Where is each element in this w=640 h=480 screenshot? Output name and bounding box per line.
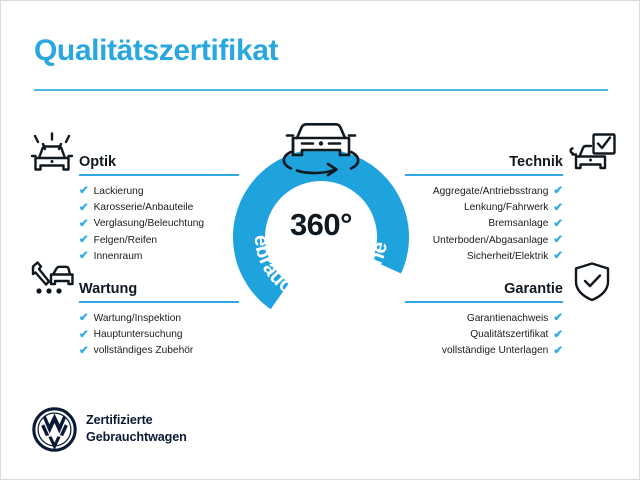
list-item: ✔Innenraum (79, 249, 239, 265)
list-item-label: Hauptuntersuchung (94, 327, 183, 343)
list-item: ✔Wartung/Inspektion (79, 311, 239, 327)
check-icon: ✔ (553, 251, 563, 263)
check-icon: ✔ (553, 186, 563, 198)
list-item: ✔Aggregate/Antriebsstrang (405, 184, 563, 200)
section-garantie-header: Garantie (405, 273, 563, 303)
footer-brand-text: Zertifizierte Gebrauchtwagen (86, 412, 187, 446)
list-item: ✔vollständige Unterlagen (405, 343, 563, 359)
list-item-label: Aggregate/Antriebsstrang (433, 184, 549, 200)
section-optik: Optik ✔Lackierung ✔Karosserie/Anbauteile… (79, 146, 239, 265)
page-title: Qualitätszertifikat (34, 34, 278, 68)
section-technik-divider (405, 174, 563, 176)
list-item: ✔Felgen/Reifen (79, 233, 239, 249)
check-icon: ✔ (79, 186, 89, 198)
section-wartung: Wartung ✔Wartung/Inspektion ✔Hauptunters… (79, 273, 239, 360)
section-garantie-divider (405, 301, 563, 303)
footer-line-2: Gebrauchtwagen (86, 429, 187, 446)
list-item-label: Garantienachweis (467, 311, 549, 327)
car-front-rotate-icon (267, 118, 375, 180)
check-icon: ✔ (79, 219, 89, 231)
certificate-page: Qualitätszertifikat Optik ✔Lackierung ✔K… (0, 0, 640, 480)
list-item-label: Qualitätszertifikat (470, 327, 548, 343)
car-shine-icon (27, 132, 77, 176)
section-optik-title: Optik (79, 154, 116, 170)
section-wartung-header: Wartung (79, 273, 239, 303)
check-icon: ✔ (79, 313, 89, 325)
list-item-label: Innenraum (94, 249, 143, 265)
list-item: ✔Lackierung (79, 184, 239, 200)
section-wartung-title: Wartung (79, 281, 137, 297)
list-item: ✔Lenkung/Fahrwerk (405, 200, 563, 216)
check-icon: ✔ (553, 330, 563, 342)
list-item-label: vollständiges Zubehör (94, 343, 194, 359)
title-divider (34, 89, 608, 91)
list-item-label: Felgen/Reifen (94, 233, 157, 249)
list-item-label: vollständige Unterlagen (442, 343, 548, 359)
list-item-label: Bremsanlage (488, 216, 548, 232)
list-item: ✔Verglasung/Beleuchtung (79, 216, 239, 232)
list-item: ✔Sicherheit/Elektrik (405, 249, 563, 265)
section-technik-list: ✔Aggregate/Antriebsstrang ✔Lenkung/Fahrw… (405, 184, 563, 265)
vw-logo (32, 407, 77, 452)
check-icon: ✔ (553, 203, 563, 215)
badge-center-label: 360° (233, 207, 409, 243)
section-optik-header: Optik (79, 146, 239, 176)
car-checkbox-icon (567, 132, 617, 176)
list-item-label: Sicherheit/Elektrik (467, 249, 549, 265)
list-item: ✔Qualitätszertifikat (405, 327, 563, 343)
section-wartung-divider (79, 301, 239, 303)
wrench-car-icon (27, 260, 77, 304)
list-item: ✔Bremsanlage (405, 216, 563, 232)
shield-check-icon (569, 260, 615, 304)
section-optik-list: ✔Lackierung ✔Karosserie/Anbauteile ✔Verg… (79, 184, 239, 265)
list-item-label: Lenkung/Fahrwerk (464, 200, 548, 216)
list-item: ✔Hauptuntersuchung (79, 327, 239, 343)
section-technik-header: Technik (405, 146, 563, 176)
check-icon: ✔ (553, 346, 563, 358)
section-technik: Technik ✔Aggregate/Antriebsstrang ✔Lenku… (405, 146, 563, 265)
section-garantie: Garantie ✔Garantienachweis ✔Qualitätszer… (405, 273, 563, 360)
check-icon: ✔ (79, 235, 89, 247)
section-technik-title: Technik (509, 154, 563, 170)
list-item-label: Lackierung (94, 184, 144, 200)
list-item-label: Verglasung/Beleuchtung (94, 216, 204, 232)
list-item: ✔Unterboden/Abgasanlage (405, 233, 563, 249)
check-icon: ✔ (553, 313, 563, 325)
section-optik-divider (79, 174, 239, 176)
list-item-label: Unterboden/Abgasanlage (433, 233, 549, 249)
list-item: ✔Garantienachweis (405, 311, 563, 327)
check-icon: ✔ (79, 251, 89, 263)
list-item-label: Karosserie/Anbauteile (94, 200, 194, 216)
list-item: ✔Karosserie/Anbauteile (79, 200, 239, 216)
footer-line-1: Zertifizierte (86, 412, 187, 429)
check-icon: ✔ (79, 203, 89, 215)
list-item-label: Wartung/Inspektion (94, 311, 181, 327)
section-wartung-list: ✔Wartung/Inspektion ✔Hauptuntersuchung ✔… (79, 311, 239, 360)
section-garantie-title: Garantie (504, 281, 563, 297)
check-icon: ✔ (553, 235, 563, 247)
section-garantie-list: ✔Garantienachweis ✔Qualitätszertifikat ✔… (405, 311, 563, 360)
check-icon: ✔ (79, 330, 89, 342)
check-icon: ✔ (553, 219, 563, 231)
list-item: ✔vollständiges Zubehör (79, 343, 239, 359)
check-icon: ✔ (79, 346, 89, 358)
